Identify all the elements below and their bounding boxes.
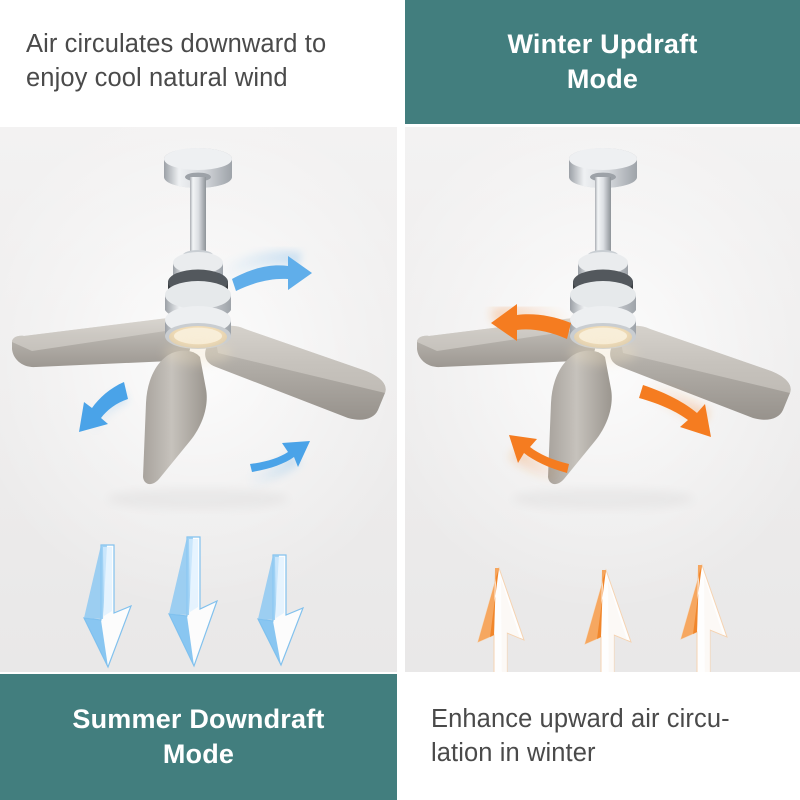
caption-winter-description-text: Enhance upward air circu- lation in wint… — [431, 703, 730, 771]
infographic-root: Air circulates downward to enjoy cool na… — [0, 0, 800, 800]
caption-line: Air circulates downward to — [26, 28, 326, 62]
updraft-stream-arrow-1 — [478, 568, 524, 672]
banner-winter-updraft-mode-text: Winter Updraft Mode — [507, 27, 697, 97]
downdraft-stream-arrows — [84, 537, 303, 667]
fan-blade-right — [610, 326, 791, 420]
downdraft-stream-arrow-1 — [84, 545, 131, 667]
airflow-arrow-bottom — [248, 441, 310, 480]
photo-summer-downdraft-fan — [0, 127, 397, 672]
summer-downdraft-illustration — [0, 127, 397, 672]
caption-summer-description: Air circulates downward to enjoy cool na… — [0, 0, 397, 124]
fan-blade-right — [205, 326, 386, 420]
banner-line: Summer Downdraft — [72, 702, 324, 737]
caption-line: Enhance upward air circu- — [431, 703, 730, 737]
banner-line: Mode — [72, 737, 324, 772]
caption-line: lation in winter — [431, 737, 730, 771]
airflow-arrow-left — [79, 382, 128, 432]
caption-line: enjoy cool natural wind — [26, 62, 326, 96]
updraft-stream-arrow-2 — [585, 570, 631, 672]
banner-summer-downdraft-mode: Summer Downdraft Mode — [0, 674, 397, 800]
led-light-fixture — [164, 306, 232, 365]
airflow-arrow-upper-right — [218, 256, 312, 291]
banner-line: Winter Updraft — [507, 27, 697, 62]
led-light-fixture — [569, 306, 637, 365]
caption-summer-description-text: Air circulates downward to enjoy cool na… — [26, 28, 326, 96]
banner-winter-updraft-mode: Winter Updraft Mode — [405, 0, 800, 124]
downdraft-stream-arrow-2 — [169, 537, 217, 666]
banner-summer-downdraft-mode-text: Summer Downdraft Mode — [72, 702, 324, 772]
photo-winter-updraft-fan — [405, 127, 800, 672]
updraft-stream-arrow-3 — [681, 565, 727, 672]
downdraft-stream-arrow-3 — [258, 555, 303, 665]
downrod — [190, 177, 206, 255]
fan-blade-front — [143, 351, 207, 484]
winter-updraft-illustration — [405, 127, 800, 672]
caption-winter-description: Enhance upward air circu- lation in wint… — [405, 674, 800, 800]
updraft-stream-arrows — [478, 565, 727, 672]
banner-line: Mode — [507, 62, 697, 97]
downrod — [595, 177, 611, 255]
